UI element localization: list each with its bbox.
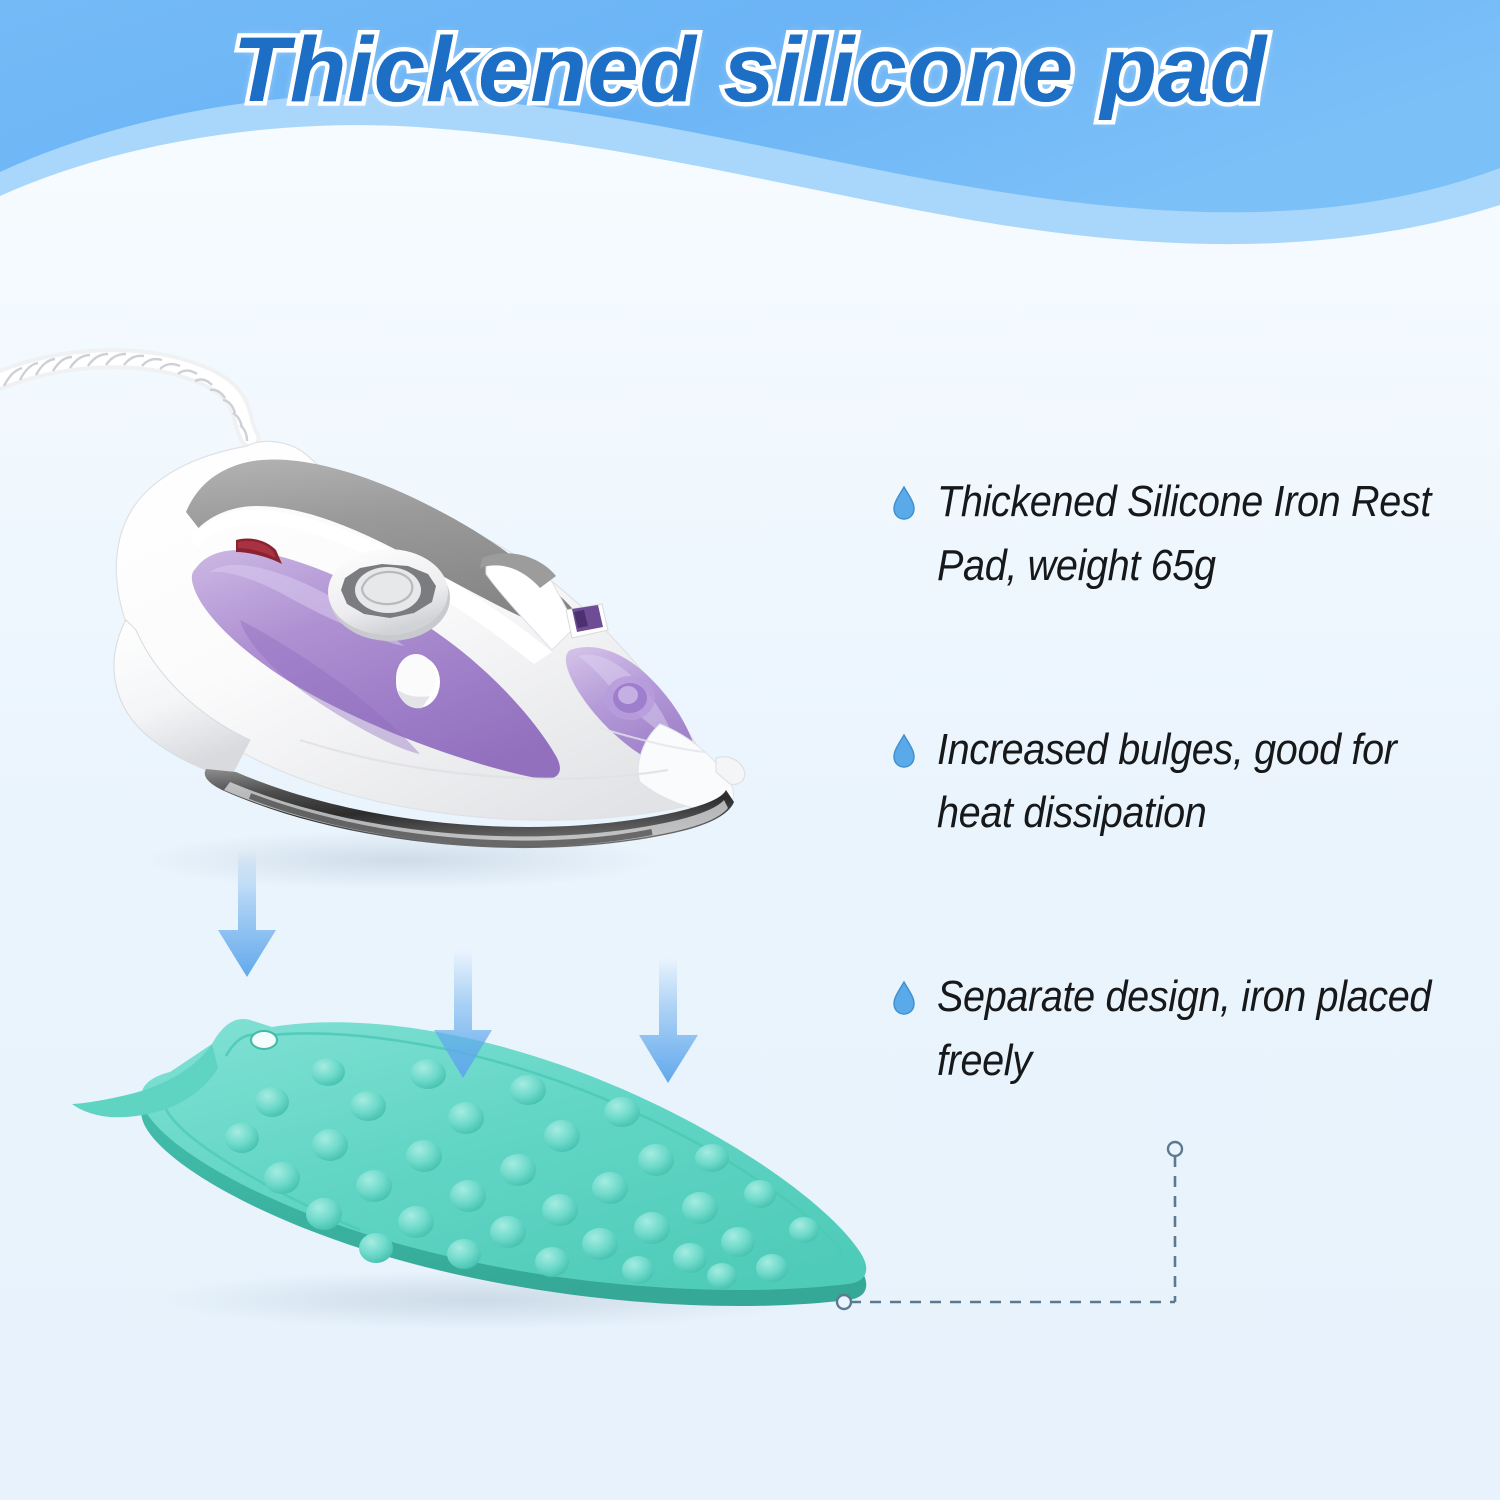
power-cord <box>0 354 250 441</box>
page-title-stroke: Thickened silicone pad <box>0 18 1500 123</box>
water-drop-icon <box>893 734 915 768</box>
dimension-callout <box>820 1120 1240 1340</box>
callout-endpoint-top <box>1168 1142 1182 1156</box>
water-drop-icon <box>893 981 915 1015</box>
iron-spray-nozzle <box>605 676 655 720</box>
feature-item-3: Separate design, iron placed freely <box>893 965 1493 1093</box>
arrow-down-3 <box>639 958 698 1083</box>
feature-list: Thickened Silicone Iron Rest Pad, weight… <box>893 470 1493 1093</box>
steam-iron-image <box>0 320 860 920</box>
water-drop-icon <box>893 486 915 520</box>
feature-text-2: Increased bulges, good for heat dissipat… <box>937 718 1437 846</box>
arrow-down-2 <box>434 950 492 1078</box>
arrow-down-1 <box>218 850 276 977</box>
feature-item-2: Increased bulges, good for heat dissipat… <box>893 718 1493 846</box>
callout-endpoint-left <box>837 1295 851 1309</box>
transfer-arrows <box>180 850 740 1090</box>
feature-text-3: Separate design, iron placed freely <box>937 965 1437 1093</box>
feature-text-1: Thickened Silicone Iron Rest Pad, weight… <box>937 470 1437 598</box>
feature-item-1: Thickened Silicone Iron Rest Pad, weight… <box>893 470 1493 598</box>
product-infographic: Thickened silicone pad Thickened silicon… <box>0 0 1500 1500</box>
iron-temperature-dial <box>328 549 450 641</box>
